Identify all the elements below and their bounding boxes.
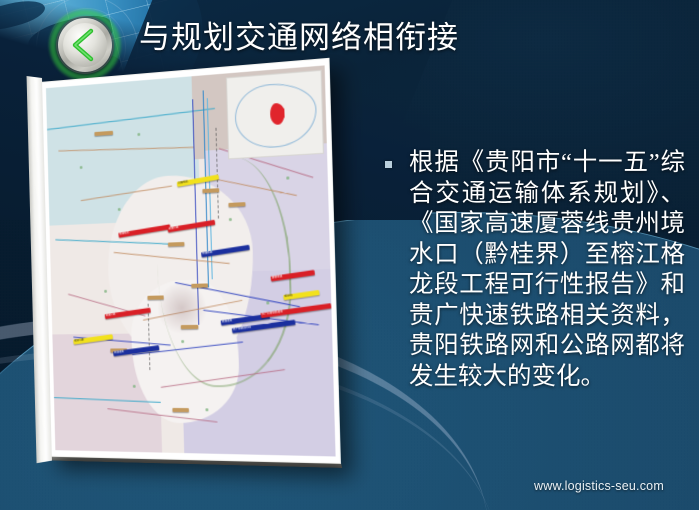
- map-callout-label: 铁路通道: [114, 350, 124, 355]
- map-board: 铁路规划高速公路公路规划快速铁路高速通道厦蓉高速规划线贵广快速铁路通道贵广铁路规…: [40, 58, 342, 464]
- map-callout-label: 快速铁路: [202, 251, 213, 257]
- map-shield: [172, 408, 189, 412]
- map-callout-tag: 贵广铁路规划线: [232, 320, 296, 334]
- bullet-marker: [385, 161, 392, 168]
- map-callout-tag: 快速铁路: [201, 245, 250, 258]
- footer-url: www.logistics-seu.com: [534, 479, 664, 493]
- map-inset-outline: [235, 81, 318, 150]
- map-inset-highlight: [270, 103, 285, 125]
- map-inset: [226, 70, 324, 160]
- map-callout-label: 规划线: [284, 294, 293, 299]
- map-callout-tag: 规划线: [283, 290, 319, 300]
- body-paragraph: 根据《贵阳市“十一五”综合交通运输体系规划》、《国家高速厦蓉线贵州境水口（黔桂界…: [409, 148, 685, 392]
- map-callout-label: 高速通道: [221, 319, 232, 325]
- map-callout-tag: 厦蓉高速: [271, 270, 316, 282]
- map-shield: [229, 202, 246, 207]
- map-callout-label: 公路规划: [178, 180, 189, 186]
- map-callout-label: 贵广铁路规划线: [233, 326, 252, 333]
- map-callout-tag: 高速通道: [220, 313, 269, 325]
- map-face: 铁路规划高速公路公路规划快速铁路高速通道厦蓉高速规划线贵广快速铁路通道贵广铁路规…: [40, 58, 342, 464]
- map-callout-tag: 贵广快速铁路通道: [260, 303, 331, 318]
- map-callout-label: 高速公路: [105, 313, 115, 318]
- map-callout-label: 厦蓉高速: [272, 275, 283, 281]
- map-callout-label: 高速公路: [168, 226, 178, 232]
- map-callout-label: 贵广快速铁路通道: [261, 310, 282, 317]
- map-shield: [191, 283, 208, 287]
- map-illustration: 铁路规划高速公路公路规划快速铁路高速通道厦蓉高速规划线贵广快速铁路通道贵广铁路规…: [20, 58, 360, 478]
- map-shield: [203, 188, 220, 193]
- page-title: 与规划交通网络相衔接: [139, 18, 459, 58]
- map-artwork: 铁路规划高速公路公路规划快速铁路高速通道厦蓉高速规划线贵广快速铁路通道贵广铁路规…: [46, 65, 336, 456]
- slide-canvas: 与规划交通网络相衔接: [0, 0, 699, 510]
- map-shield: [147, 296, 164, 300]
- content-bullet-list: 根据《贵阳市“十一五”综合交通运输体系规划》、《国家高速厦蓉线贵州境水口（黔桂界…: [385, 148, 685, 392]
- map-shield: [181, 325, 198, 329]
